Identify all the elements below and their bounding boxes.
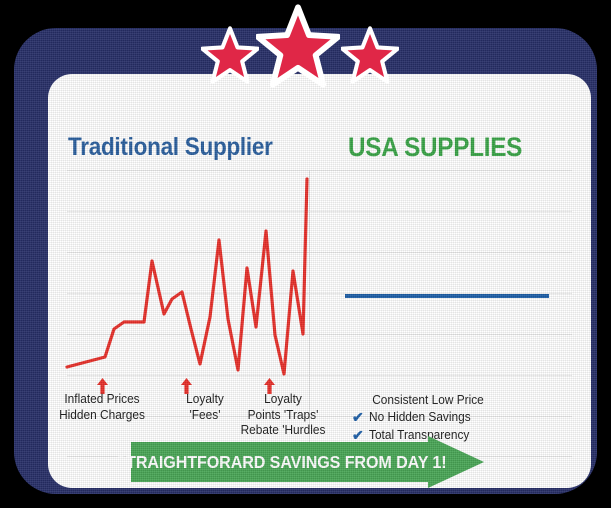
label-line: Hidden Charges [56,408,147,424]
savings-banner: STRAIGHTFORARD SAVINGS FROM DAY 1! [131,436,484,488]
star-icon [256,4,340,88]
gridline-3 [67,252,572,253]
label-line: Loyalty [236,392,331,408]
gridline-5 [67,334,572,335]
check-icon: ✔ [352,410,364,424]
savings-banner-text: STRAIGHTFORARD SAVINGS FROM DAY 1! [143,444,419,480]
label-line: 'Fees' [172,408,239,424]
gridline-4 [67,293,572,294]
label-loyalty-points-traps: Loyalty Points 'Traps' Rebate 'Hurdles [236,392,331,439]
label-consistent-low-price: Consistent Low Price [343,392,514,408]
gridline-6 [67,375,572,376]
label-loyalty-fees: Loyalty 'Fees' [172,392,239,423]
label-line: Points 'Traps' [236,408,331,424]
column-heading-traditional-supplier: Traditional Supplier [68,133,273,162]
card-frame: Traditional Supplier USA SUPPLIES [14,28,597,494]
label-inflated-prices: Inflated Prices Hidden Charges [56,392,147,423]
comparison-chart: Traditional Supplier USA SUPPLIES [48,74,591,488]
star-rating-group [195,2,415,82]
series-line-traditional-supplier [67,179,307,374]
gridline-1 [67,170,572,171]
benefit-label: No Hidden Savings [369,408,471,426]
benefit-no-hidden-savings: ✔ No Hidden Savings [338,408,538,426]
column-heading-usa-supplies: USA SUPPLIES [348,132,522,163]
label-line: Loyalty [172,392,239,408]
star-icon [201,26,259,84]
label-line: Inflated Prices [56,392,147,408]
screenshot-root: Traditional Supplier USA SUPPLIES [0,0,611,508]
gridline-2 [67,211,572,212]
card-inner: Traditional Supplier USA SUPPLIES [48,74,591,488]
star-icon [341,26,399,84]
